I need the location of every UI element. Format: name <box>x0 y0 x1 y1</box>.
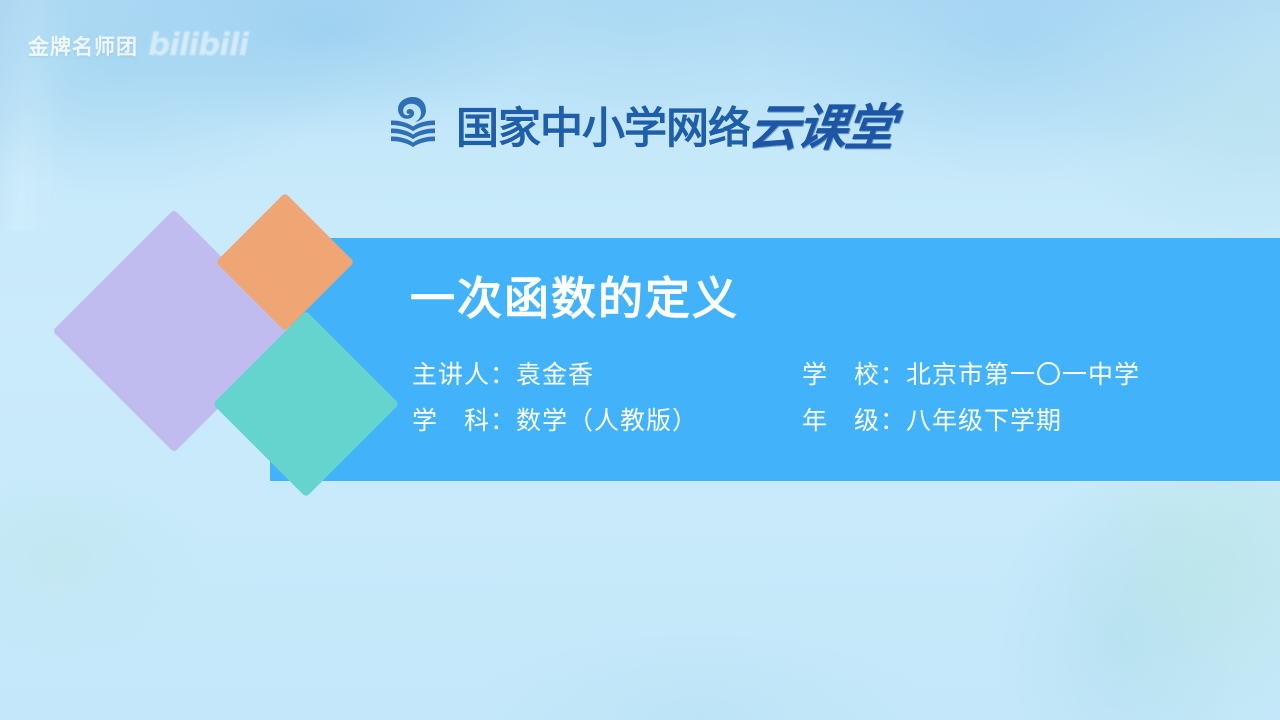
course-school: 学 校：北京市第一〇一中学 <box>802 355 1262 391</box>
watermark: 金牌名师团 bilibili <box>28 28 248 64</box>
platform-name-main: 国家中小学网络 <box>456 94 750 156</box>
course-info-content: 一次函数的定义 主讲人：袁金香 学 校：北京市第一〇一中学 学 科：数学（人教版… <box>400 238 1280 481</box>
bilibili-logo-icon: bilibili <box>148 27 248 63</box>
wave-book-icon <box>386 93 442 151</box>
platform-logo-wordmark: 国家中小学网络 云课堂 <box>456 86 894 158</box>
course-meta-row: 学 科：数学（人教版） 年 级：八年级下学期 <box>412 401 1280 437</box>
platform-name-brush: 云课堂 <box>745 88 898 160</box>
watermark-channel-label: 金牌名师团 <box>28 31 138 61</box>
platform-logo: 国家中小学网络 云课堂 <box>0 86 1280 158</box>
page-title: 一次函数的定义 <box>410 276 1280 321</box>
course-lecturer: 主讲人：袁金香 <box>412 355 802 391</box>
course-grade: 年 级：八年级下学期 <box>802 401 1262 437</box>
course-meta-grid: 主讲人：袁金香 学 校：北京市第一〇一中学 学 科：数学（人教版） 年 级：八年… <box>412 355 1280 437</box>
course-meta-row: 主讲人：袁金香 学 校：北京市第一〇一中学 <box>412 355 1280 391</box>
slide-canvas: 金牌名师团 bilibili 国家中小学网络 云课堂 一次函数的定义 主讲人：袁… <box>0 0 1280 720</box>
course-subject: 学 科：数学（人教版） <box>412 401 802 437</box>
